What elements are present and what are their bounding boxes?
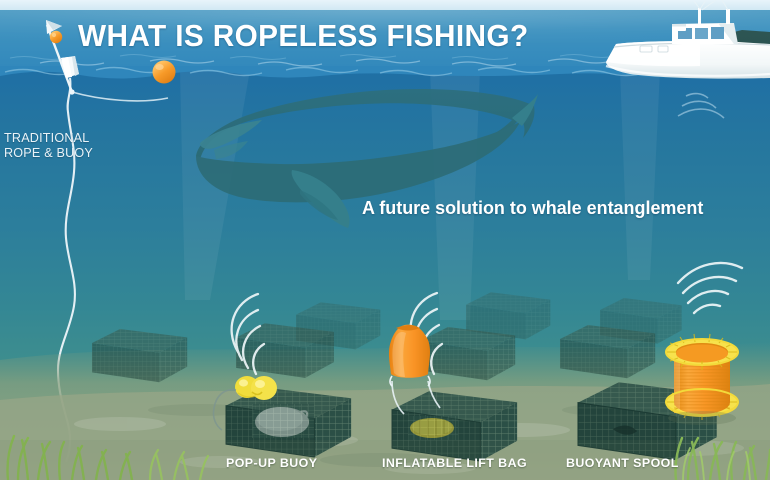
traditional-label-line2: ROPE & BUOY — [4, 146, 93, 161]
traditional-label-line1: TRADITIONAL — [4, 131, 93, 146]
underwater-scene — [0, 0, 770, 480]
method-label-inflatable-lift-bag: INFLATABLE LIFT BAG — [382, 456, 527, 470]
subtitle-text: A future solution to whale entanglement — [362, 197, 703, 219]
page-title: WHAT IS ROPELESS FISHING? — [78, 18, 529, 54]
buoyant-spool-icon — [666, 334, 738, 420]
method-label-buoyant-spool: BUOYANT SPOOL — [566, 456, 679, 470]
acoustic-release-canister-icon — [252, 404, 314, 438]
sky-band — [0, 0, 770, 11]
traditional-rope-buoy-label: TRADITIONAL ROPE & BUOY — [4, 131, 93, 161]
packed-liftbag-icon — [408, 416, 458, 440]
ropeless-fishing-infographic: WHAT IS ROPELESS FISHING? A future solut… — [0, 0, 770, 480]
popup-buoy-icon — [235, 376, 277, 400]
method-label-popup-buoy: POP-UP BUOY — [226, 456, 317, 470]
rope-knot-icon — [69, 89, 74, 94]
